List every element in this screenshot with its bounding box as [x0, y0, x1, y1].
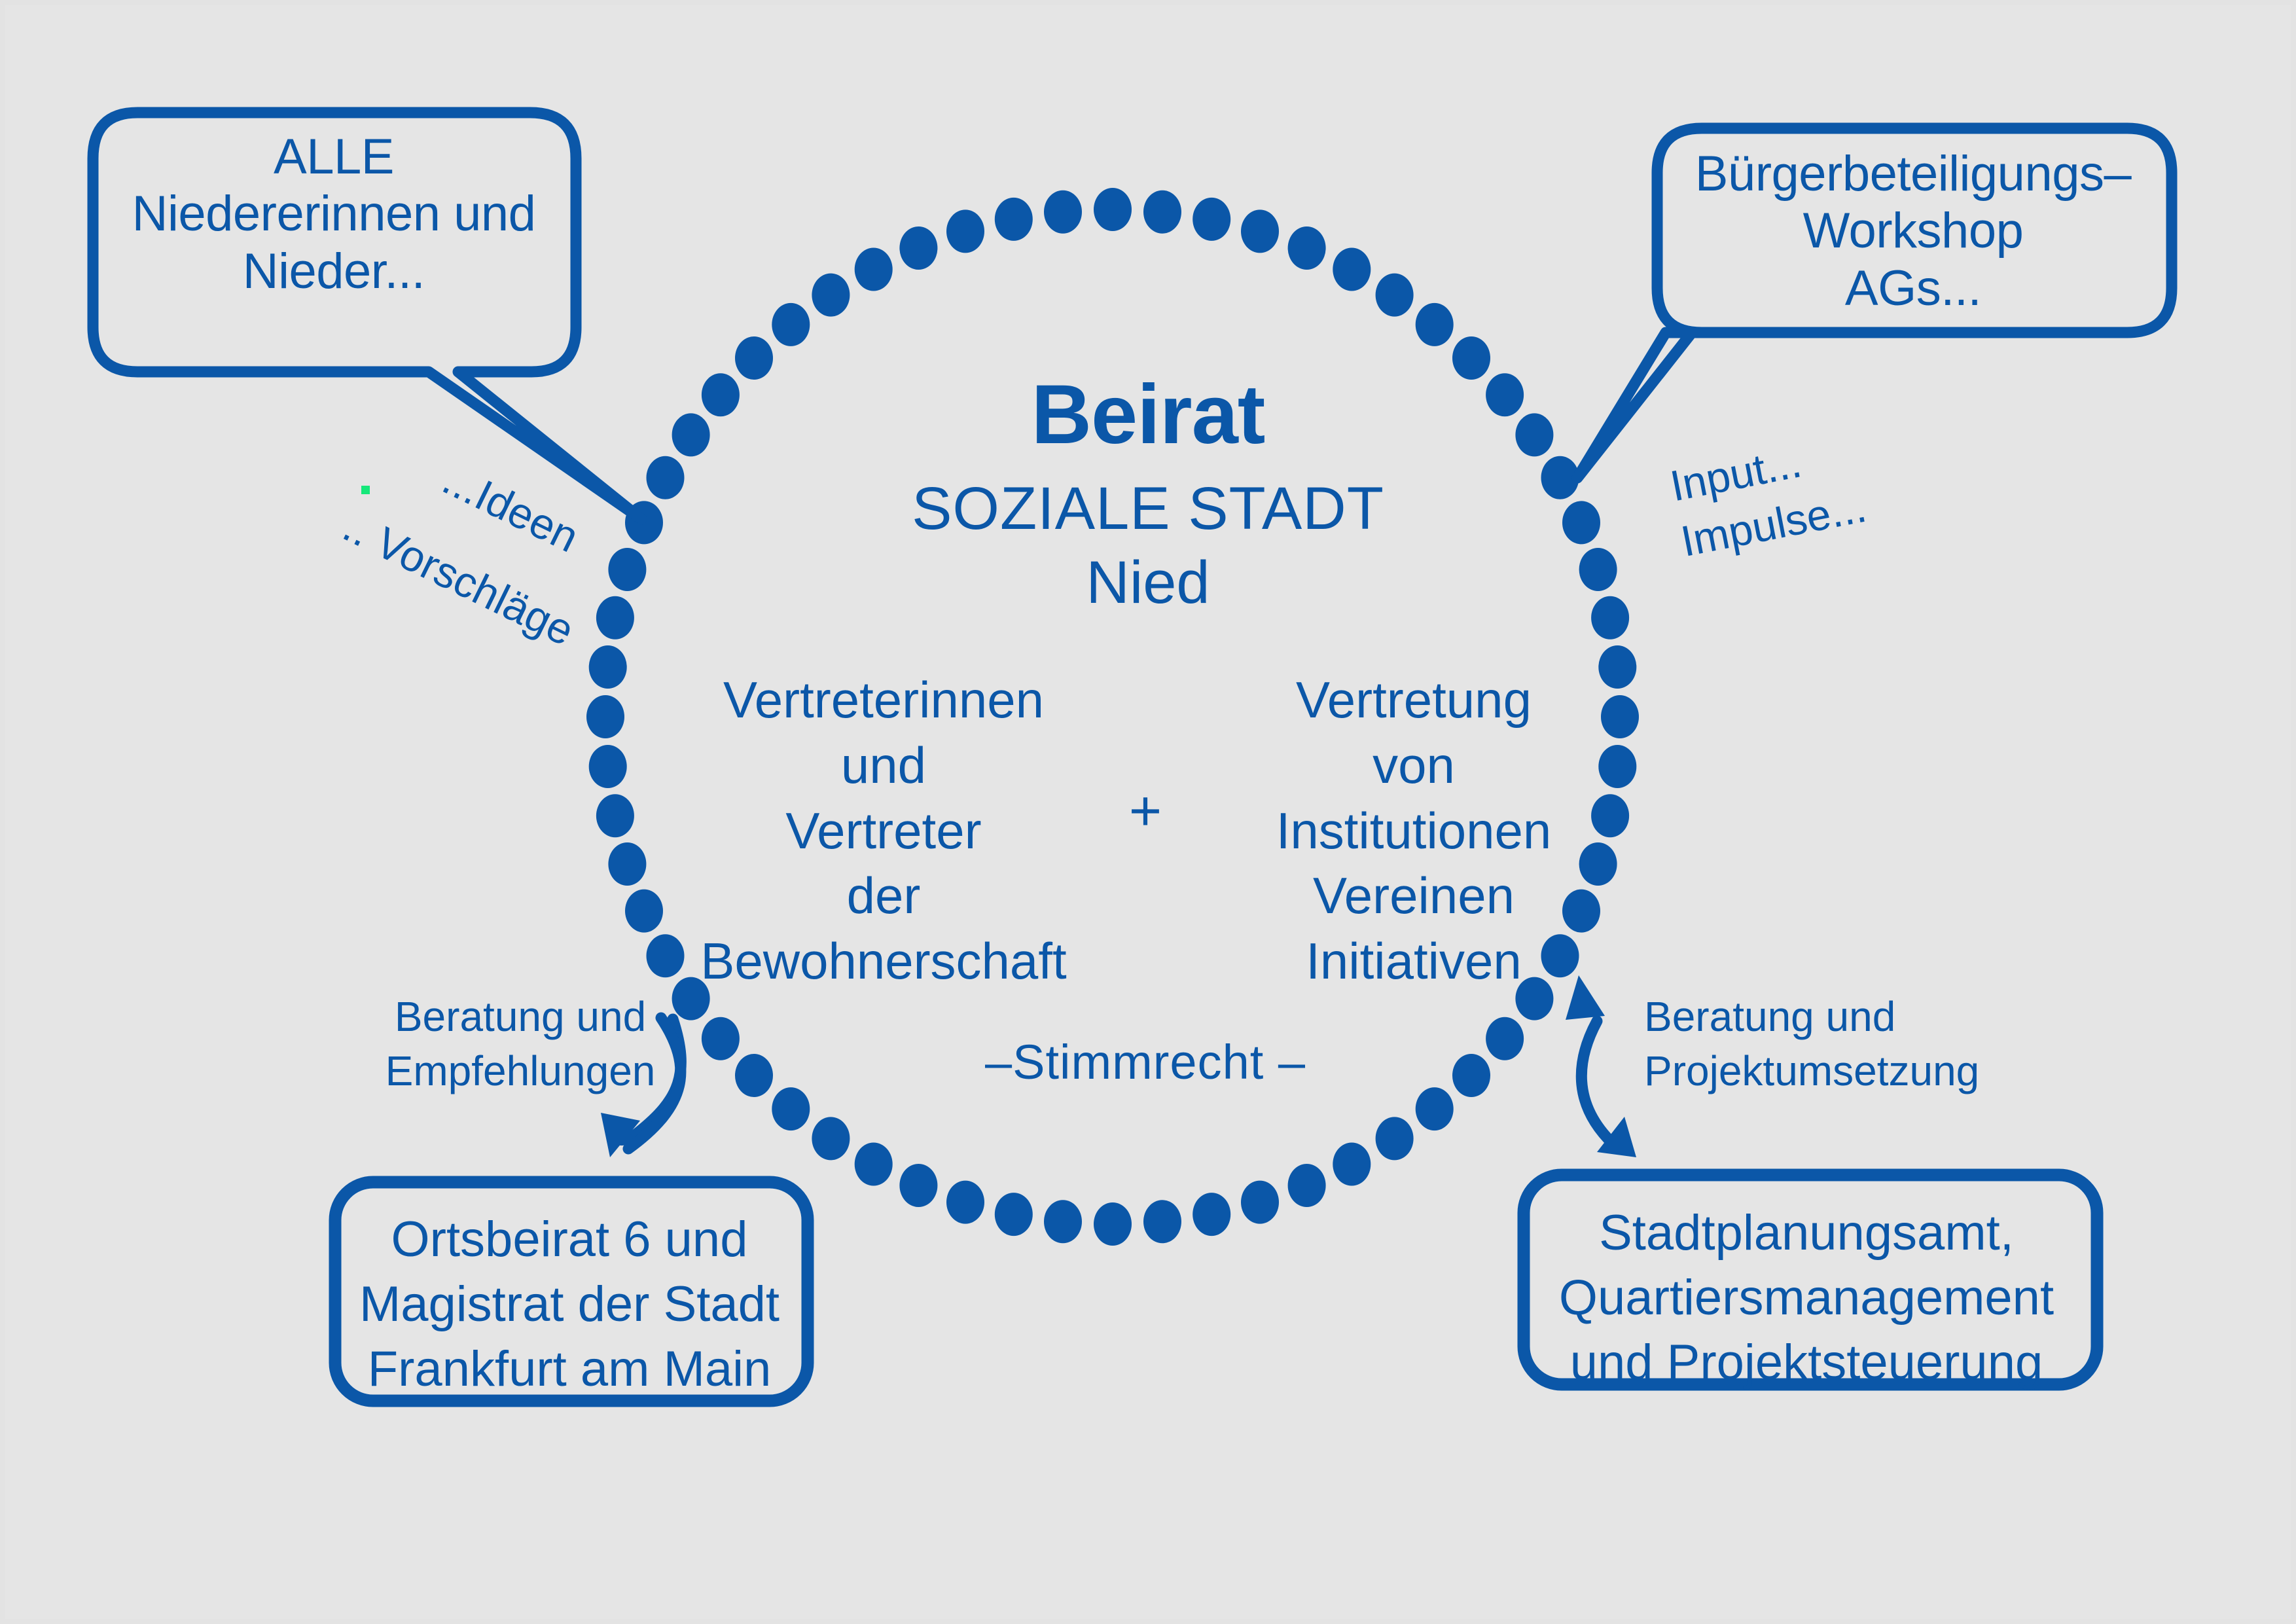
circle-dot	[1288, 1164, 1326, 1207]
circle-dot	[1241, 1181, 1279, 1224]
circle-dot	[1416, 303, 1454, 346]
annotation-beratung-projektumsetzung: Beratung und Projektumsetzung	[1644, 990, 2050, 1098]
circle-dot	[1333, 1143, 1371, 1186]
circle-dot	[1376, 274, 1414, 317]
circle-dot	[1193, 198, 1230, 241]
stimmrecht-note: –Stimmrecht –	[851, 1034, 1440, 1090]
circle-dot	[1094, 188, 1132, 231]
bubble-text-buergerbeteiligung: Bürgerbeteiligungs– Workshop AGs...	[1661, 145, 2165, 317]
circle-dot	[812, 1117, 850, 1160]
circle-dot	[1486, 1017, 1524, 1060]
circle-dot	[1452, 1054, 1490, 1097]
circle-dot	[772, 303, 810, 346]
subtitle-nied: Nied	[0, 549, 2296, 618]
circle-dot	[995, 198, 1033, 241]
circle-dot	[995, 1193, 1033, 1236]
bubble-text-alle-niederer: ALLE Niedererinnen und Nieder...	[98, 128, 569, 300]
circle-dot	[946, 1181, 984, 1224]
circle-dot	[1193, 1193, 1230, 1236]
circle-dot	[1333, 248, 1371, 291]
circle-dot	[1376, 1117, 1414, 1160]
circle-dot	[589, 745, 627, 788]
circle-dot	[586, 695, 624, 738]
annotation-beratung-empfehlungen: Beratung und Empfehlungen	[383, 990, 658, 1098]
column-institutionen: Vertretung von Institutionen Vereinen In…	[1185, 668, 1643, 994]
column-bewohnerschaft: Vertreterinnen und Vertreter der Bewohne…	[655, 668, 1113, 994]
page-title: Beirat	[0, 367, 2296, 463]
circle-dot	[812, 274, 850, 317]
circle-dot	[946, 209, 984, 253]
circle-dot	[596, 794, 634, 837]
circle-dot	[1143, 1200, 1181, 1243]
circle-dot	[608, 842, 646, 886]
green-marker-dot	[361, 486, 370, 494]
circle-dot	[772, 1087, 810, 1130]
circle-dot	[855, 1143, 893, 1186]
arrow-beratung-projektumsetzung	[1566, 975, 1636, 1157]
circle-dot	[1143, 190, 1181, 234]
circle-dot	[589, 645, 627, 689]
circle-dot	[1044, 1200, 1082, 1243]
circle-dot	[1288, 226, 1326, 270]
circle-dot	[1094, 1202, 1132, 1246]
circle-dot	[702, 1017, 740, 1060]
circle-dot	[899, 1164, 937, 1207]
circle-dot	[1241, 209, 1279, 253]
circle-dot	[1044, 190, 1082, 234]
circle-dot	[735, 1054, 773, 1097]
box-text-ortsbeirat: Ortsbeirat 6 und Magistrat der Stadt Fra…	[327, 1208, 812, 1401]
circle-dot	[855, 248, 893, 291]
circle-dot	[899, 226, 937, 270]
diagram-canvas: ALLE Niedererinnen und Nieder... Bürgerb…	[0, 0, 2296, 1624]
circle-dot	[1416, 1087, 1454, 1130]
box-text-stadtplanungsamt: Stadtplanungsamt, Quartiersmanagement un…	[1518, 1201, 2094, 1395]
